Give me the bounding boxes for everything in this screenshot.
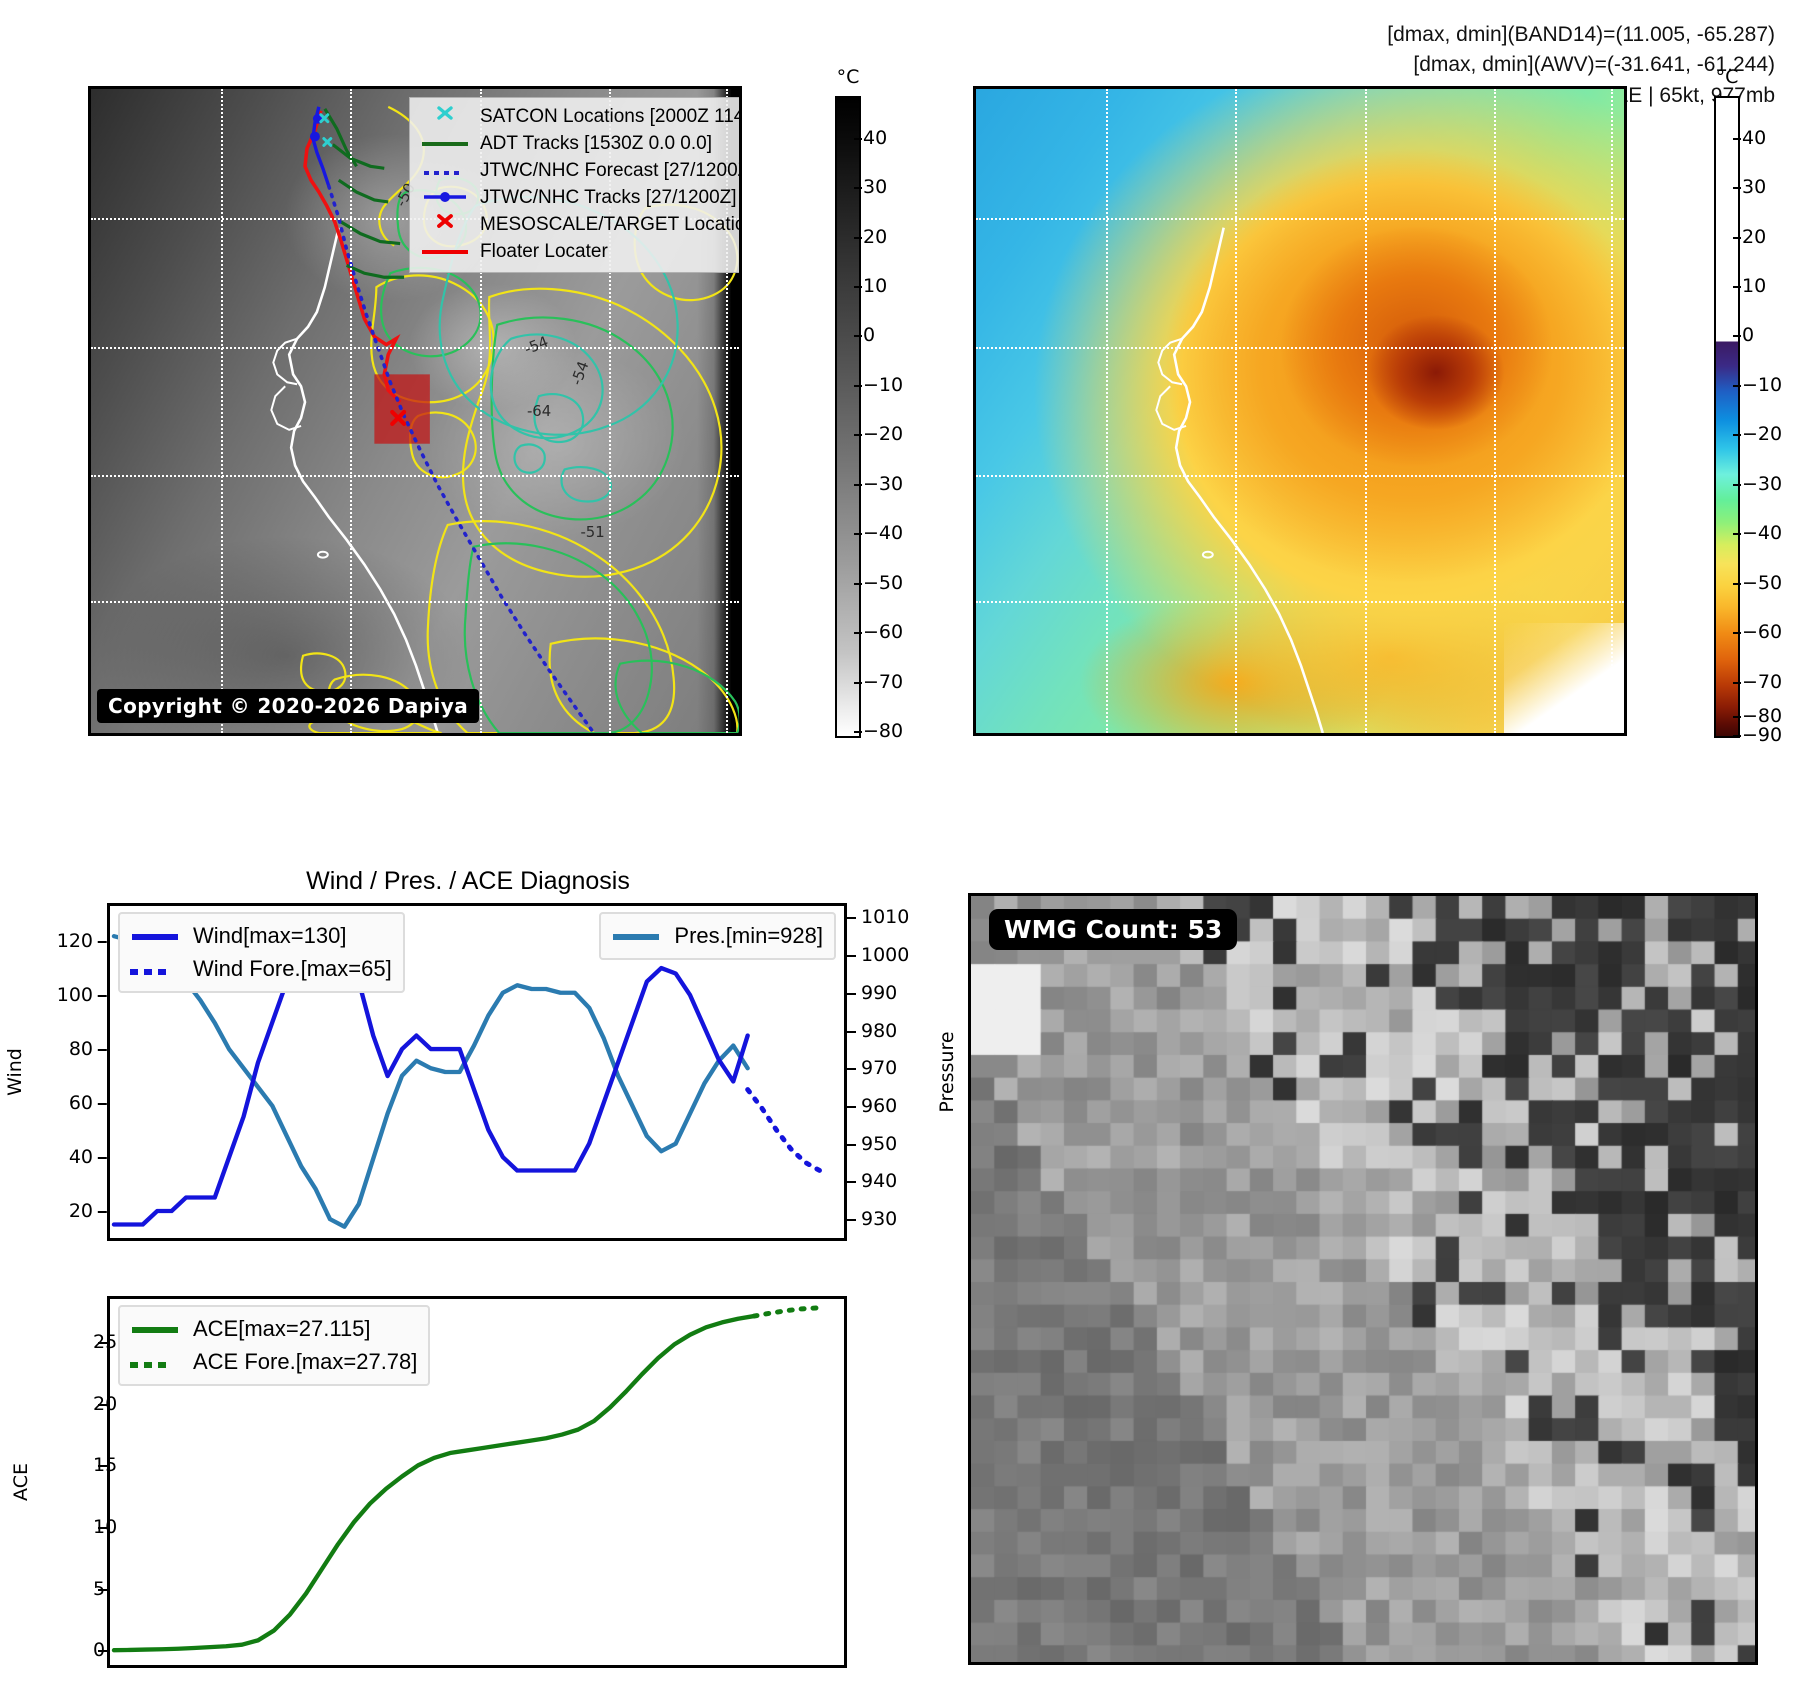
ace-ytick: 5 [93,1578,107,1600]
legend-item-adt-tracks: ADT Tracks [1530Z 0.0 0.0] [418,131,742,158]
awv-lon-tick: 120°E [1582,733,1627,736]
ir-colorbar-gradient [835,96,861,738]
ir-lat-tick: 24°S [88,207,91,229]
wind-line-icon [127,919,183,952]
awv-lat-tick: 24°S [973,207,976,229]
awv-lat-tick: 28°S [973,464,976,486]
ace-ytick: 25 [93,1331,107,1353]
pressure-axis-label: Pressure [936,1031,958,1112]
legend-item-ace: ACE[max=27.115] [127,1312,417,1345]
ir-colorbar: °C 40 30 20 10 0 −10 −20 −30 −40 −50 −60… [835,96,861,738]
awv-cb-tick: 40 [1742,127,1766,149]
jtwc-track-line-dot-icon [418,185,472,212]
ir-lat-tick: 30°S [88,590,91,612]
ir-lon-tick: 114°E [321,733,379,736]
copyright-badge: Copyright © 2020-2026 Dapiya [97,689,479,723]
pressure-ytick: 990 [847,982,897,1004]
legend-item-wind-forecast: Wind Fore.[max=65] [127,952,392,985]
awv-lat-tick: 26°S [973,336,976,358]
wind-ytick: 120 [57,930,107,952]
coastline-overlay [976,89,1624,733]
awv-cb-tick: 10 [1742,275,1766,297]
wmg-mosaic-image [971,896,1758,1665]
awv-cb-tick: 30 [1742,176,1766,198]
awv-cb-tick: −90 [1742,724,1782,746]
ir-lon-tick: 120°E [697,733,742,736]
ace-forecast-dotted-icon [127,1345,183,1378]
pressure-ytick: 1000 [847,944,909,966]
legend-label: Floater Locater [480,239,608,266]
legend-item-satcon: SATCON Locations [2000Z 114 936] [418,104,742,131]
ir-lon-tick: 112°E [192,733,250,736]
wind-ytick: 60 [69,1092,107,1114]
pressure-ytick: 930 [847,1208,897,1230]
stat-band14: [dmax, dmin](BAND14)=(11.005, -65.287) [1387,20,1775,50]
ir-cb-tick: −70 [863,671,903,693]
ir-cb-tick: −10 [863,374,903,396]
wind-ytick: 40 [69,1146,107,1168]
awv-lon-tick: 118°E [1466,733,1524,736]
ir-cb-tick: −60 [863,621,903,643]
awv-cb-tick: 20 [1742,226,1766,248]
awv-cb-tick: −60 [1742,621,1782,643]
ir-lon-tick: 116°E [451,733,509,736]
ir-satellite-map[interactable]: -50 -54 -54 -64 -51 [88,86,742,736]
awv-colorbar: °C 40 30 20 10 0 −10 −20 −30 −40 −50 −60… [1714,96,1740,738]
awv-cb-tick: −20 [1742,423,1782,445]
legend-item-wind: Wind[max=130] [127,919,392,952]
legend-item-jtwc-tracks: JTWC/NHC Tracks [27/1200Z] [418,185,742,212]
ir-lon-tick: 118°E [581,733,639,736]
ir-cb-tick: 0 [863,324,875,346]
ir-lat-tick: 26°S [88,336,91,358]
floater-line-icon [418,239,472,266]
awv-cb-tick: −70 [1742,671,1782,693]
awv-cb-tick: −80 [1742,705,1782,727]
jtwc-forecast-dotted-icon [418,158,472,185]
wind-ytick: 20 [69,1200,107,1222]
ace-ytick: 0 [93,1639,107,1661]
adt-line-icon [418,131,472,158]
legend-label: Wind[max=130] [193,919,346,952]
awv-lon-tick: 112°E [1077,733,1135,736]
legend-label: SATCON Locations [2000Z 114 936] [480,104,742,131]
legend-label: Pres.[min=928] [674,919,823,952]
awv-lat-tick: 30°S [973,590,976,612]
ir-colorbar-unit: °C [837,66,860,88]
ace-line-icon [127,1312,183,1345]
pressure-ytick: 980 [847,1020,897,1042]
ir-cb-tick: −30 [863,473,903,495]
wmg-mosaic-panel[interactable]: WMG Count: 53 [968,893,1758,1665]
wind-ytick: 80 [69,1038,107,1060]
mesoscale-x-icon [418,212,472,239]
pressure-ytick: 960 [847,1095,897,1117]
ace-legend: ACE[max=27.115] ACE Fore.[max=27.78] [118,1305,430,1386]
pressure-ytick: 940 [847,1170,897,1192]
legend-label: MESOSCALE/TARGET Location [480,212,742,239]
wind-axis-label: Wind [4,1048,26,1096]
awv-cb-tick: 0 [1742,324,1754,346]
awv-lon-tick: 114°E [1206,733,1264,736]
awv-colorbar-gradient [1714,96,1740,738]
awv-cb-tick: −10 [1742,374,1782,396]
ir-cb-tick: −20 [863,423,903,445]
ir-map-legend: SATCON Locations [2000Z 114 936] ADT Tra… [409,97,742,273]
ir-lat-tick: 28°S [88,464,91,486]
legend-label: JTWC/NHC Forecast [27/1200Z] [480,158,742,185]
pressure-ytick: 1010 [847,906,909,928]
awv-cb-tick: −40 [1742,522,1782,544]
awv-lon-tick: 116°E [1336,733,1394,736]
legend-label: JTWC/NHC Tracks [27/1200Z] [480,185,737,212]
legend-label: ACE[max=27.115] [193,1312,371,1345]
ir-cb-tick: 10 [863,275,887,297]
ace-chart[interactable]: ACE[max=27.115] ACE Fore.[max=27.78] [107,1296,847,1668]
awv-lat-tick: 22°S [973,86,976,103]
ace-ytick: 20 [93,1393,107,1415]
legend-item-ace-forecast: ACE Fore.[max=27.78] [127,1345,417,1378]
wmg-count-badge: WMG Count: 53 [989,909,1237,950]
ace-ytick: 15 [93,1454,107,1476]
legend-item-mesoscale-target: MESOSCALE/TARGET Location [418,212,742,239]
wind-legend: Wind[max=130] Wind Fore.[max=65] [118,912,405,993]
wind-ytick: 100 [57,984,107,1006]
pressure-line-icon [608,919,664,952]
pressure-ytick: 970 [847,1057,897,1079]
ir-cb-tick: −50 [863,572,903,594]
legend-label: ACE Fore.[max=27.78] [193,1345,417,1378]
ir-cb-tick: −40 [863,522,903,544]
awv-colorbar-unit: °C [1716,66,1739,88]
wind-forecast-dotted-icon [127,952,183,985]
ir-lat-tick: 22°S [88,86,91,103]
awv-cb-tick: −50 [1742,572,1782,594]
legend-label: ADT Tracks [1530Z 0.0 0.0] [480,131,712,158]
diagnosis-title: Wind / Pres. / ACE Diagnosis [88,867,848,896]
enhanced-ir-map[interactable]: 22°S 24°S 26°S 28°S 30°S 112°E 114°E 116… [973,86,1627,736]
legend-item-floater-locater: Floater Locater [418,239,742,266]
awv-cb-tick: −30 [1742,473,1782,495]
pressure-legend: Pres.[min=928] [599,912,836,960]
ir-cb-tick: 30 [863,176,887,198]
ir-cb-tick: 40 [863,127,887,149]
satcon-x-icon [418,104,472,131]
legend-item-jtwc-forecast: JTWC/NHC Forecast [27/1200Z] [418,158,742,185]
legend-label: Wind Fore.[max=65] [193,952,392,985]
ace-axis-label: ACE [10,1463,32,1501]
pressure-ytick: 950 [847,1133,897,1155]
ir-cb-tick: 20 [863,226,887,248]
wind-pressure-chart[interactable]: Wind[max=130] Wind Fore.[max=65] Pres.[m… [107,903,847,1241]
legend-item-pressure: Pres.[min=928] [608,919,823,952]
ir-cb-tick: −80 [863,720,903,742]
ace-ytick: 10 [93,1516,107,1538]
